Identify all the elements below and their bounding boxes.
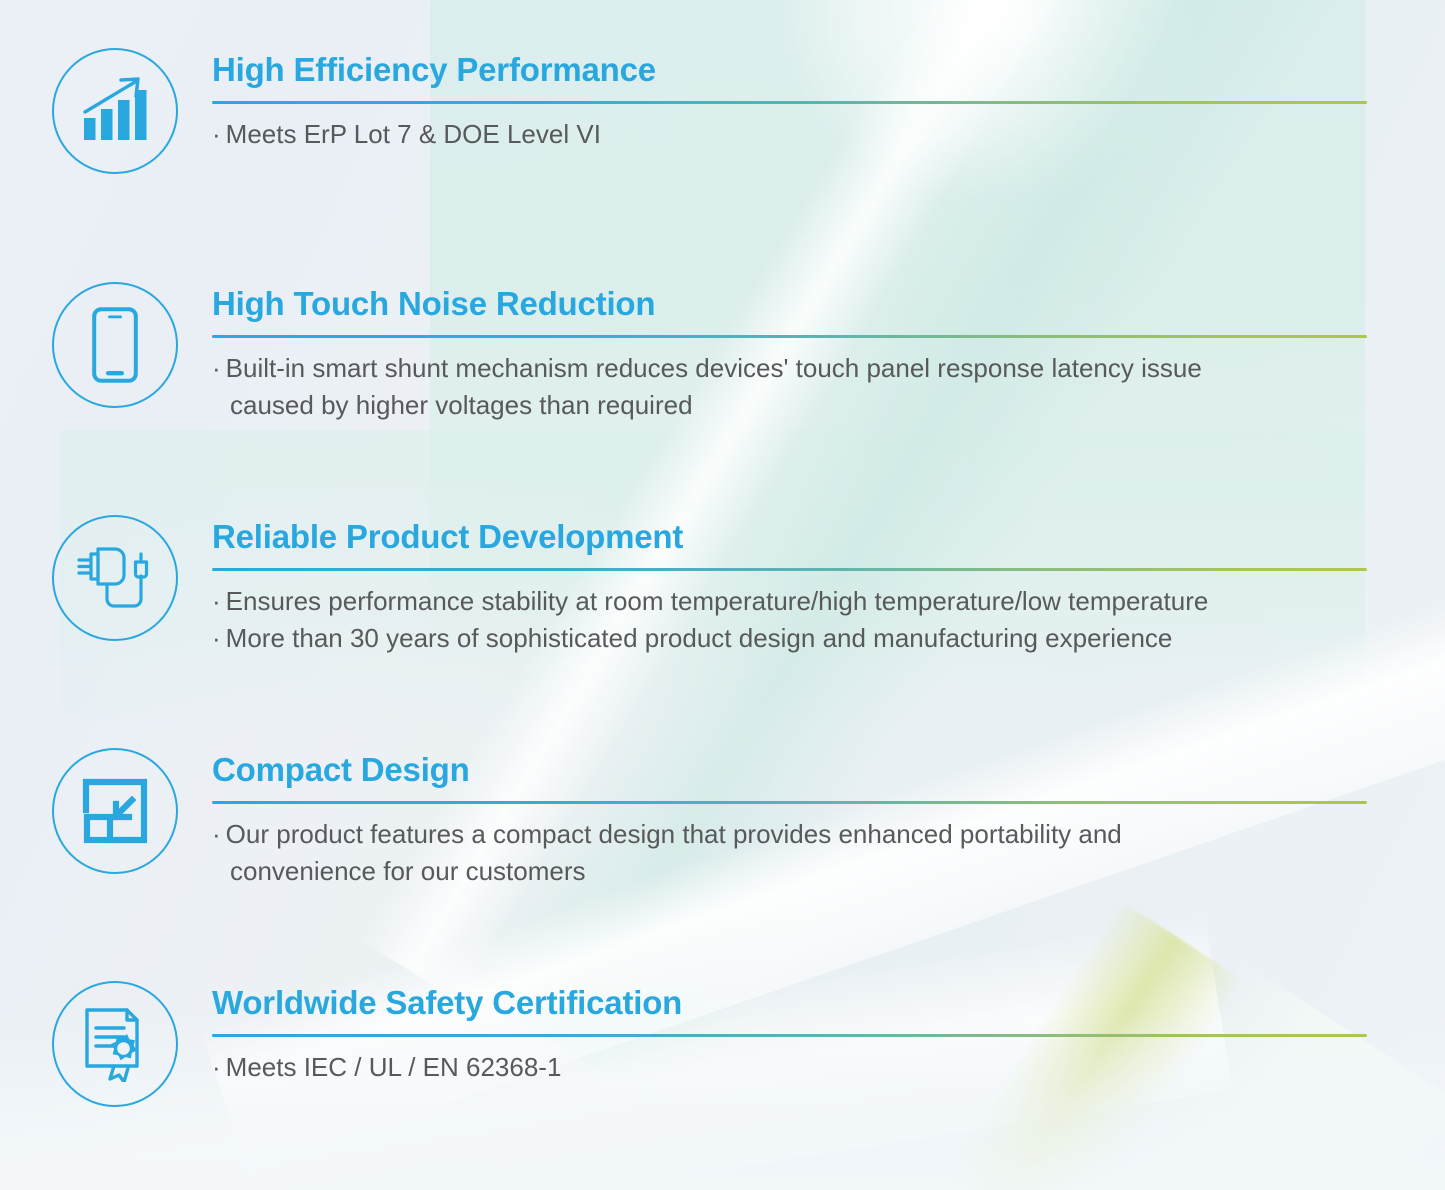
feature-item-high-touch-noise-reduction: High Touch Noise Reduction ·Built-in sma… — [52, 282, 1417, 423]
feature-body: High Efficiency Performance ·Meets ErP L… — [212, 48, 1417, 153]
bullet-text: Built-in smart shunt mechanism reduces d… — [226, 353, 1202, 383]
feature-title: High Efficiency Performance — [212, 52, 1417, 88]
certificate-award-icon — [52, 981, 178, 1107]
bullet-text-continuation: caused by higher voltages than required — [212, 387, 1417, 424]
bullet-marker: · — [212, 586, 221, 616]
title-divider-rule — [212, 1034, 1367, 1037]
bullet-text: Meets ErP Lot 7 & DOE Level VI — [226, 119, 601, 149]
feature-body: High Touch Noise Reduction ·Built-in sma… — [212, 282, 1417, 423]
bullet-marker: · — [212, 1052, 221, 1082]
feature-bullets: ·Built-in smart shunt mechanism reduces … — [212, 350, 1417, 424]
bullet-item: ·Meets ErP Lot 7 & DOE Level VI — [212, 116, 1417, 153]
feature-body: Reliable Product Development ·Ensures pe… — [212, 515, 1417, 656]
feature-bullets: ·Ensures performance stability at room t… — [212, 583, 1417, 657]
bullet-marker: · — [212, 119, 221, 149]
bullet-text: Ensures performance stability at room te… — [226, 586, 1209, 616]
bullet-item: ·Built-in smart shunt mechanism reduces … — [212, 350, 1417, 387]
bullet-item: ·More than 30 years of sophisticated pro… — [212, 620, 1417, 657]
feature-bullets: ·Our product features a compact design t… — [212, 816, 1417, 890]
feature-item-compact-design: Compact Design ·Our product features a c… — [52, 748, 1417, 889]
bullet-item: ·Our product features a compact design t… — [212, 816, 1417, 853]
bullet-text-continuation: convenience for our customers — [212, 853, 1417, 890]
feature-bullets: ·Meets IEC / UL / EN 62368-1 — [212, 1049, 1417, 1086]
feature-bullets: ·Meets ErP Lot 7 & DOE Level VI — [212, 116, 1417, 153]
feature-item-reliable-product-development: Reliable Product Development ·Ensures pe… — [52, 515, 1417, 656]
bullet-text: Meets IEC / UL / EN 62368-1 — [226, 1052, 562, 1082]
power-adapter-icon — [52, 515, 178, 641]
bar-chart-growth-icon — [52, 48, 178, 174]
bullet-item: ·Meets IEC / UL / EN 62368-1 — [212, 1049, 1417, 1086]
bullet-text: More than 30 years of sophisticated prod… — [226, 623, 1173, 653]
feature-body: Compact Design ·Our product features a c… — [212, 748, 1417, 889]
feature-title: Reliable Product Development — [212, 519, 1417, 555]
feature-list: High Efficiency Performance ·Meets ErP L… — [0, 0, 1445, 1190]
feature-item-high-efficiency-performance: High Efficiency Performance ·Meets ErP L… — [52, 48, 1417, 174]
smartphone-icon — [52, 282, 178, 408]
bullet-marker: · — [212, 353, 221, 383]
title-divider-rule — [212, 568, 1367, 571]
feature-title: Worldwide Safety Certification — [212, 985, 1417, 1021]
title-divider-rule — [212, 101, 1367, 104]
bullet-marker: · — [212, 819, 221, 849]
feature-body: Worldwide Safety Certification ·Meets IE… — [212, 981, 1417, 1086]
title-divider-rule — [212, 801, 1367, 804]
feature-title: Compact Design — [212, 752, 1417, 788]
compact-resize-icon — [52, 748, 178, 874]
feature-title: High Touch Noise Reduction — [212, 286, 1417, 322]
bullet-marker: · — [212, 623, 221, 653]
bullet-item: ·Ensures performance stability at room t… — [212, 583, 1417, 620]
title-divider-rule — [212, 335, 1367, 338]
feature-item-worldwide-safety-certification: Worldwide Safety Certification ·Meets IE… — [52, 981, 1417, 1107]
bullet-text: Our product features a compact design th… — [226, 819, 1122, 849]
